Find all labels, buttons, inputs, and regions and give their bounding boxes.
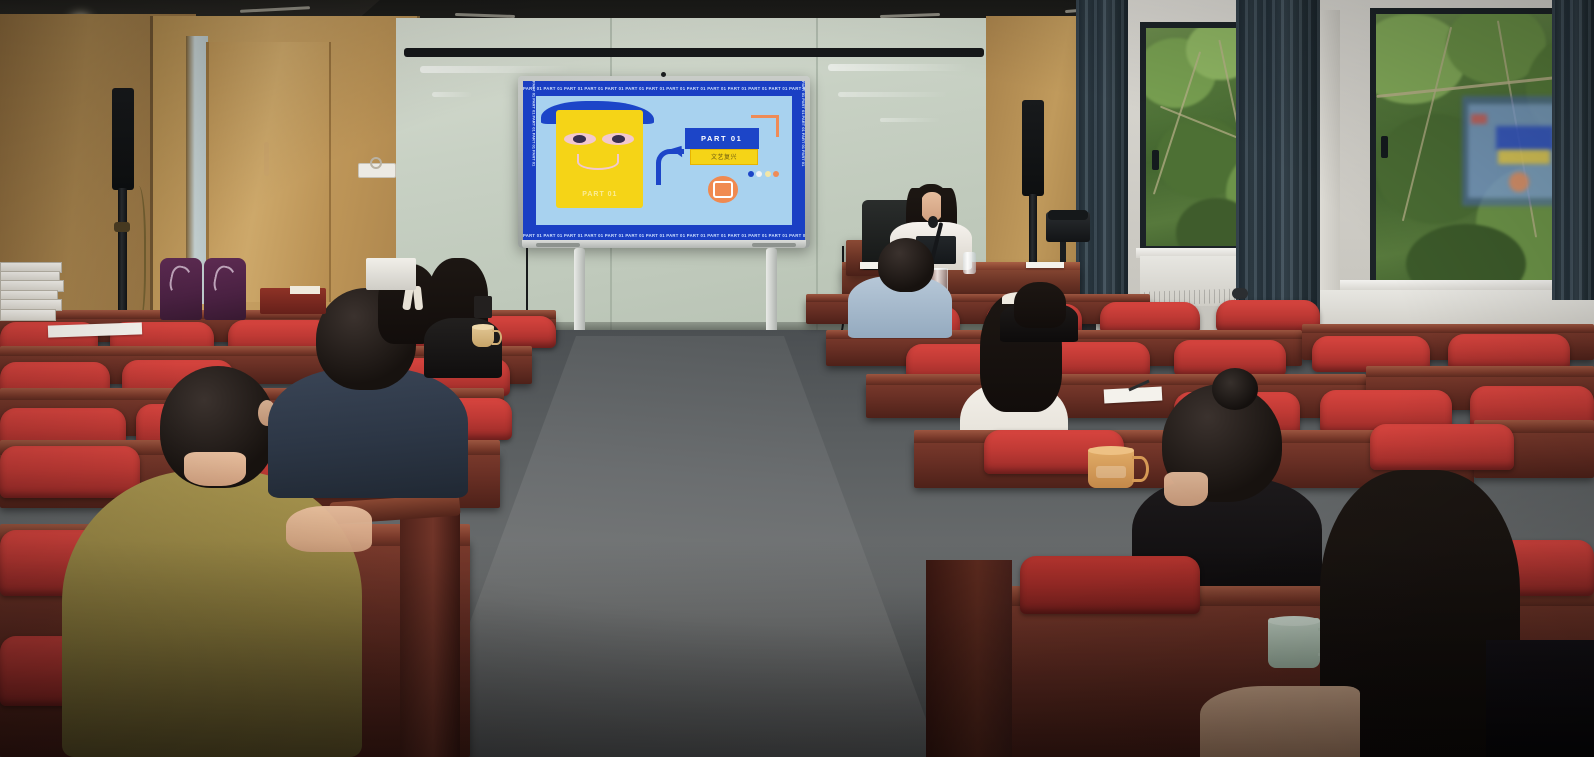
slide-camera-icon: [708, 176, 739, 203]
attendee-torso: [1486, 640, 1594, 757]
attendee-head: [878, 238, 934, 292]
attendee-hair: [1014, 282, 1066, 328]
wall-seam: [150, 16, 153, 346]
microphone-head[interactable]: [928, 216, 938, 228]
display-camera-icon: [661, 72, 666, 77]
glass-reflection: [432, 92, 472, 97]
slide-subtitle: 文艺复兴: [690, 149, 759, 165]
slide-dot-2: [756, 171, 762, 177]
slide-dot-indicators: [748, 171, 780, 177]
desk-phone-handset[interactable]: [1048, 210, 1088, 220]
table-sign-label: [290, 286, 320, 294]
glass-reflection: [828, 64, 968, 71]
slide-dot-4: [773, 171, 779, 177]
projector-screen-rail: [404, 48, 984, 57]
display-screen[interactable]: PART 01 PART 01 文艺复兴 PART 01 PART: [523, 81, 805, 243]
mug-green-rim: [1268, 616, 1320, 626]
seat[interactable]: [0, 446, 140, 498]
wall-hook-icon: [370, 157, 382, 169]
glass-reflection: [838, 92, 948, 97]
window-handle-1[interactable]: [1152, 150, 1159, 170]
slide-camera-icon-inner: [713, 181, 733, 198]
attendee-shoulder: [1200, 686, 1360, 757]
speaker-cable-left: [128, 186, 146, 326]
glass-reflection: [880, 118, 940, 122]
slide-dot-1: [748, 171, 754, 177]
slide-face-caption: PART 01: [561, 191, 638, 198]
book-stack: [0, 309, 56, 321]
slide-canvas: PART 01 PART 01 文艺复兴: [536, 96, 793, 226]
speaker-stand-left: [118, 188, 127, 323]
printer-box: [366, 258, 416, 290]
slide-marquee-left: PART 01 PART 01 PART 01 PART 01 PART 01: [523, 81, 536, 243]
mug-tan-rim: [472, 324, 494, 330]
seat[interactable]: [1448, 334, 1570, 370]
desk-right-row-3-top: [866, 374, 1366, 385]
door-handle[interactable]: [264, 142, 269, 176]
speaker-right: [1022, 100, 1044, 196]
keyboard-mouse[interactable]: [1232, 288, 1248, 299]
curtain-right-folds: [1552, 0, 1594, 300]
attendee-neck: [1164, 472, 1208, 506]
desk-right-row-2b-top: [1302, 324, 1594, 333]
lecture-room-photo: PART 01 PART 01 文艺复兴 PART 01 PART: [0, 0, 1594, 757]
mug-orange-pattern: [1096, 466, 1126, 478]
small-device: [474, 296, 492, 318]
speaker-left: [112, 88, 134, 190]
desk-right-row-3b-top: [1366, 366, 1594, 377]
slide-part-label: PART 01: [685, 128, 759, 149]
attendee-hair-bun: [1212, 368, 1258, 410]
slide-marquee-top: PART 01 PART 01 PART 01 PART 01 PART 01 …: [523, 81, 805, 96]
window-handle-2[interactable]: [1381, 136, 1388, 158]
water-bottle[interactable]: [963, 252, 976, 274]
attendee-neck: [184, 452, 246, 486]
slide-corner-accent: [751, 115, 780, 137]
wall-display[interactable]: PART 01 PART 01 文艺复兴 PART 01 PART: [518, 76, 810, 248]
seat[interactable]: [1370, 424, 1514, 470]
curtain-middle-folds: [1236, 0, 1320, 320]
podium-papers-2: [1026, 262, 1064, 268]
mug-tan-handle: [492, 330, 502, 345]
desk-side-panel: [926, 560, 1012, 757]
slide-dot-3: [765, 171, 771, 177]
glass-reflection: [420, 66, 570, 73]
mug-orange-handle: [1132, 456, 1149, 482]
curtain-left-folds: [1076, 0, 1128, 300]
slide-marquee-right: PART 01 PART 01 PART 01 PART 01 PART 01: [792, 81, 805, 243]
mug-orange-rim: [1088, 446, 1134, 455]
attendee-arm: [286, 506, 372, 552]
display-speaker-grille: [752, 243, 796, 247]
seat[interactable]: [1020, 556, 1200, 614]
display-speaker-grille: [536, 243, 580, 247]
